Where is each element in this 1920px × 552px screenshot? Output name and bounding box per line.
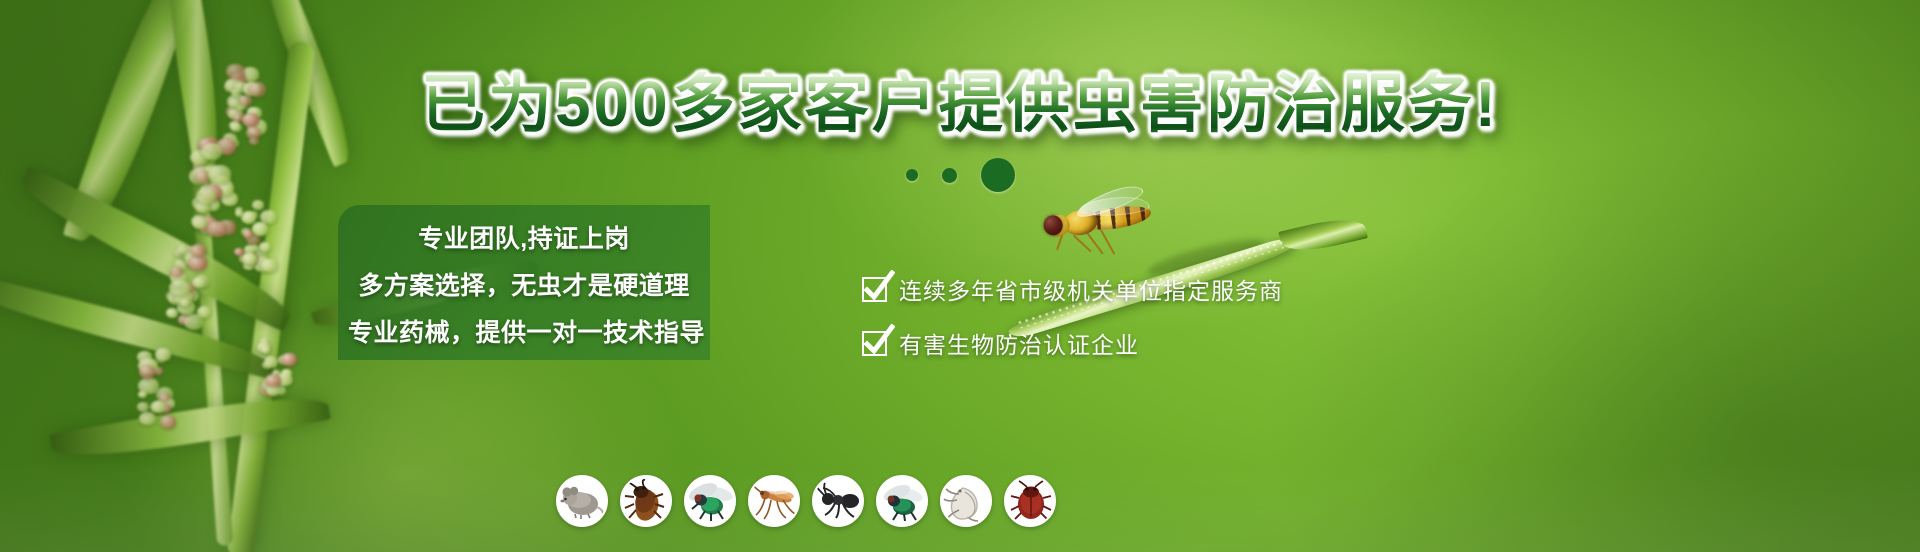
credentials-checklist: 连续多年省市级机关单位指定服务商 有害生物防治认证企业 (862, 272, 1283, 360)
checkbox-checked-icon (862, 331, 887, 356)
decorative-dot-large (981, 158, 1015, 192)
selling-point-line-2: 多方案选择，无虫才是硬道理 (348, 266, 700, 302)
promo-banner: 已为500多家客户提供虫害防治服务! 专业团队,持证上岗 多方案选择，无虫才是硬… (0, 0, 1920, 552)
decorative-dot-small (906, 169, 918, 181)
cockroach-icon (620, 475, 672, 527)
checkbox-checked-icon (862, 277, 887, 302)
mouse-icon (556, 475, 608, 527)
pest-icons-row (556, 475, 1056, 527)
selling-point-line-1: 专业团队,持证上岗 (348, 219, 700, 255)
list-item: 连续多年省市级机关单位指定服务商 (862, 272, 1283, 306)
fly-icon (684, 475, 736, 527)
decorative-dot-medium (942, 168, 957, 183)
selling-point-line-3: 专业药械，提供一对一技术指导 (348, 313, 700, 349)
decorative-dots (0, 158, 1920, 192)
list-item: 有害生物防治认证企业 (862, 326, 1283, 360)
bedbug-icon (1004, 475, 1056, 527)
page-title: 已为500多家客户提供虫害防治服务! (0, 72, 1920, 136)
flea-icon (940, 475, 992, 527)
ant-icon (812, 475, 864, 527)
selling-points-panel: 专业团队,持证上岗 多方案选择，无虫才是硬道理 专业药械，提供一对一技术指导 (338, 205, 710, 360)
credential-text: 连续多年省市级机关单位指定服务商 (899, 272, 1283, 306)
mosquito-icon (748, 475, 800, 527)
blowfly-icon (876, 475, 928, 527)
credential-text: 有害生物防治认证企业 (899, 326, 1139, 360)
